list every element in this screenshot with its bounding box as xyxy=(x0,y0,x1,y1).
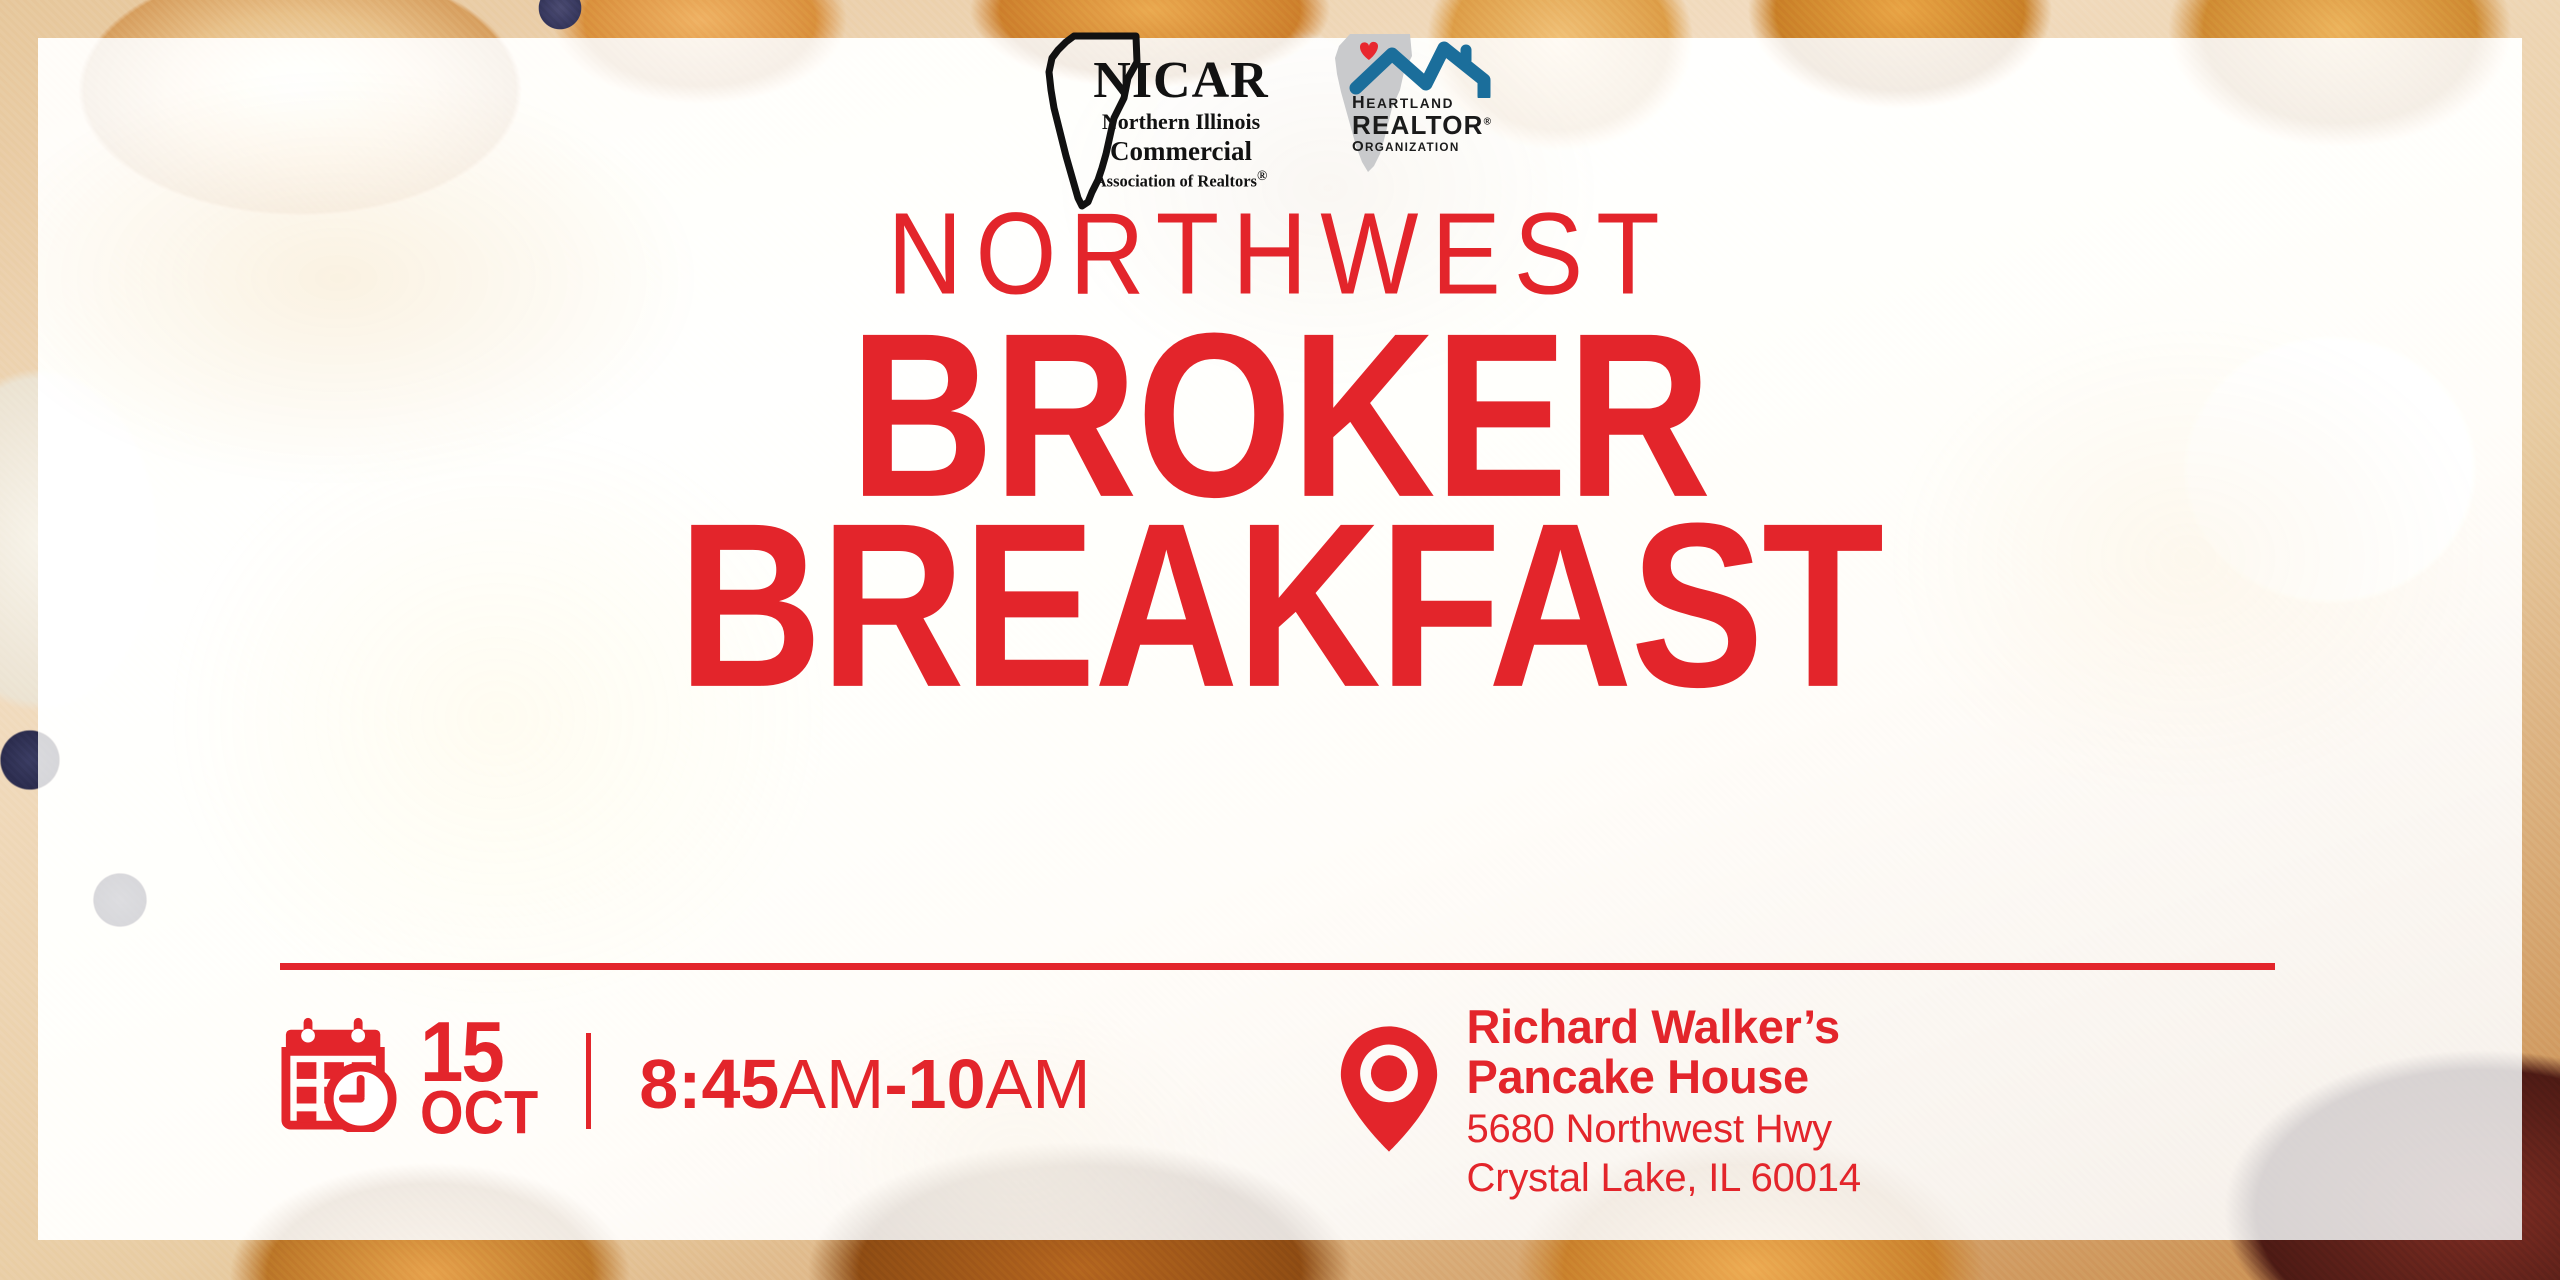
event-time: 8:45AM-10AM xyxy=(639,1044,1090,1124)
calendar-clock-icon xyxy=(280,1014,398,1132)
location-text: Richard Walker’s Pancake House 5680 Nort… xyxy=(1467,1002,1861,1202)
nicar-line-1: Northern Illinois xyxy=(1086,108,1276,136)
nicar-line-3: Association of Realtors® xyxy=(1086,167,1276,192)
venue-name-line-2: Pancake House xyxy=(1467,1052,1861,1102)
event-details-row: 15 OCT 8:45AM-10AM Richard Walker’s Panc… xyxy=(280,1000,2460,1200)
heartland-line-2-text: REALTOR xyxy=(1352,110,1484,140)
flyer-canvas: NICAR Northern Illinois Commercial Assoc… xyxy=(0,0,2560,1280)
event-time-separator: - xyxy=(884,1045,907,1123)
house-roof-icon xyxy=(1348,40,1508,98)
venue-name-line-1: Richard Walker’s xyxy=(1467,1002,1861,1052)
flyer-content: NICAR Northern Illinois Commercial Assoc… xyxy=(0,0,2560,1280)
horizontal-divider xyxy=(280,963,2275,970)
event-date: 15 OCT xyxy=(420,1017,538,1138)
map-pin-icon xyxy=(1337,1024,1441,1154)
date-time-block: 15 OCT 8:45AM-10AM xyxy=(280,1000,1091,1132)
logo-row: NICAR Northern Illinois Commercial Assoc… xyxy=(0,30,2560,210)
event-time-end: 10 xyxy=(908,1045,986,1123)
event-time-start-meridiem: AM xyxy=(779,1045,884,1123)
event-date-month: OCT xyxy=(420,1087,538,1137)
nicar-line-3-text: Association of Realtors xyxy=(1095,171,1257,190)
heartland-wordmark: HEARTLAND REALTOR® ORGANIZATION xyxy=(1352,94,1520,155)
heartland-registered-mark: ® xyxy=(1484,116,1493,127)
nicar-line-2: Commercial xyxy=(1086,136,1276,167)
heartland-realtor-organization-logo: HEARTLAND REALTOR® ORGANIZATION xyxy=(1326,38,1516,168)
nicar-registered-mark: ® xyxy=(1257,168,1267,183)
nicar-logo: NICAR Northern Illinois Commercial Assoc… xyxy=(1044,30,1254,210)
location-block: Richard Walker’s Pancake House 5680 Nort… xyxy=(1337,1002,1861,1202)
nicar-wordmark: NICAR Northern Illinois Commercial Assoc… xyxy=(1086,56,1276,192)
heartland-line-2: REALTOR® xyxy=(1352,112,1492,139)
headline-line-2: BREAKFAST xyxy=(0,508,2560,705)
headline-block: NORTHWEST BROKER BREAKFAST xyxy=(0,196,2560,676)
heartland-line-3: ORGANIZATION xyxy=(1352,139,1520,156)
venue-city-state-zip: Crystal Lake, IL 60014 xyxy=(1467,1156,1861,1202)
event-time-start: 8:45 xyxy=(639,1045,779,1123)
vertical-divider xyxy=(586,1033,591,1129)
event-time-end-meridiem: AM xyxy=(986,1045,1091,1123)
heart-icon xyxy=(1360,42,1378,60)
nicar-acronym: NICAR xyxy=(1086,56,1276,105)
venue-street: 5680 Northwest Hwy xyxy=(1467,1107,1861,1153)
